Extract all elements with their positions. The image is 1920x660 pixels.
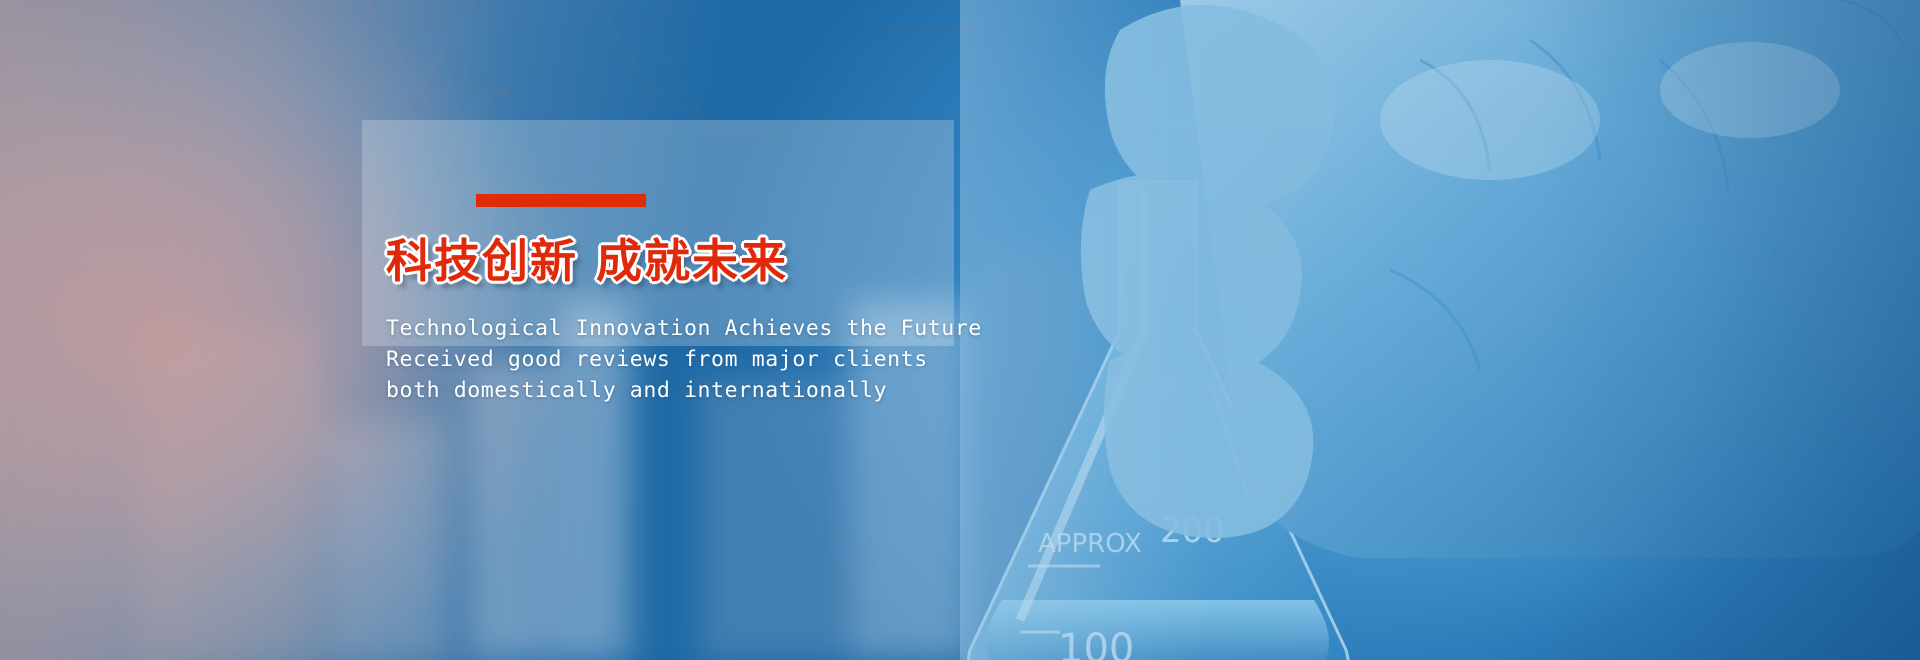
hero-banner: N O: [0, 0, 1920, 660]
page-title: 科技创新 成就未来: [386, 225, 1086, 291]
subtitle-line-2: Received good reviews from major clients: [386, 344, 1086, 375]
accent-rule: [476, 194, 646, 207]
subtitle-line-1: Technological Innovation Achieves the Fu…: [386, 313, 1086, 344]
subtitle-line-3: both domestically and internationally: [386, 375, 1086, 406]
banner-copy: 科技创新 成就未来 Technological Innovation Achie…: [386, 150, 1086, 406]
subtitle-block: Technological Innovation Achieves the Fu…: [386, 313, 1086, 406]
